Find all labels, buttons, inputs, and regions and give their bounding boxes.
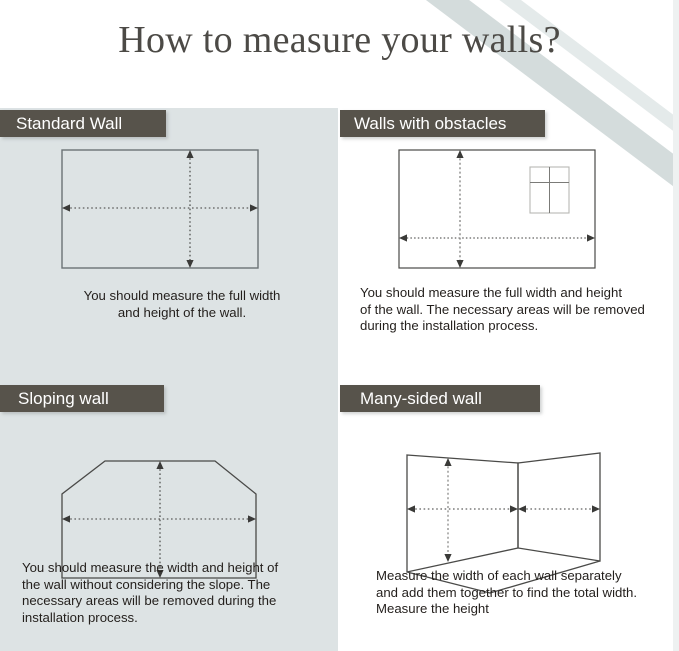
panel-caption-sloping-wall: You should measure the width and height … (22, 560, 322, 626)
panel-title-walls-with-obstacles: Walls with obstacles (354, 114, 506, 134)
panel-walls-with-obstacles: Walls with obstacles (340, 108, 679, 376)
panel-caption-standard-wall: You should measure the full width and he… (52, 288, 312, 321)
width-measure-arrow-left-wall (407, 505, 518, 512)
width-measure-arrow (62, 204, 258, 211)
diagram-sloping-wall (0, 413, 338, 573)
left-wall-outline (407, 455, 518, 572)
width-measure-arrow (62, 515, 256, 522)
panel-header-walls-with-obstacles: Walls with obstacles (340, 110, 545, 137)
panel-header-sloping-wall: Sloping wall (0, 385, 164, 412)
height-measure-arrow (456, 150, 463, 268)
right-wall-outline (518, 453, 600, 561)
diagram-walls-with-obstacles (340, 138, 679, 298)
height-measure-arrow (186, 150, 193, 268)
width-measure-arrow-right-wall (518, 505, 600, 512)
window-icon (530, 167, 569, 213)
diagram-standard-wall (0, 138, 338, 298)
panel-caption-walls-with-obstacles: You should measure the full width and he… (360, 285, 670, 335)
panel-title-standard-wall: Standard Wall (16, 114, 122, 134)
wall-outline (62, 150, 258, 268)
infographic-page: How to measure your walls? Standard Wall (0, 0, 679, 651)
panel-many-sided-wall: Many-sided wall (340, 383, 679, 651)
diagram-many-sided-wall (340, 413, 679, 573)
panel-header-standard-wall: Standard Wall (0, 110, 166, 137)
height-measure-arrow (444, 458, 451, 562)
width-measure-arrow (399, 234, 595, 241)
panel-sloping-wall: Sloping wall You should mea (0, 383, 338, 651)
panel-standard-wall: Standard Wall You should me (0, 108, 338, 376)
panel-header-many-sided-wall: Many-sided wall (340, 385, 540, 412)
panel-caption-many-sided-wall: Measure the width of each wall separatel… (376, 568, 676, 618)
page-title: How to measure your walls? (0, 18, 679, 62)
panel-title-sloping-wall: Sloping wall (18, 389, 109, 409)
panel-title-many-sided-wall: Many-sided wall (360, 389, 482, 409)
